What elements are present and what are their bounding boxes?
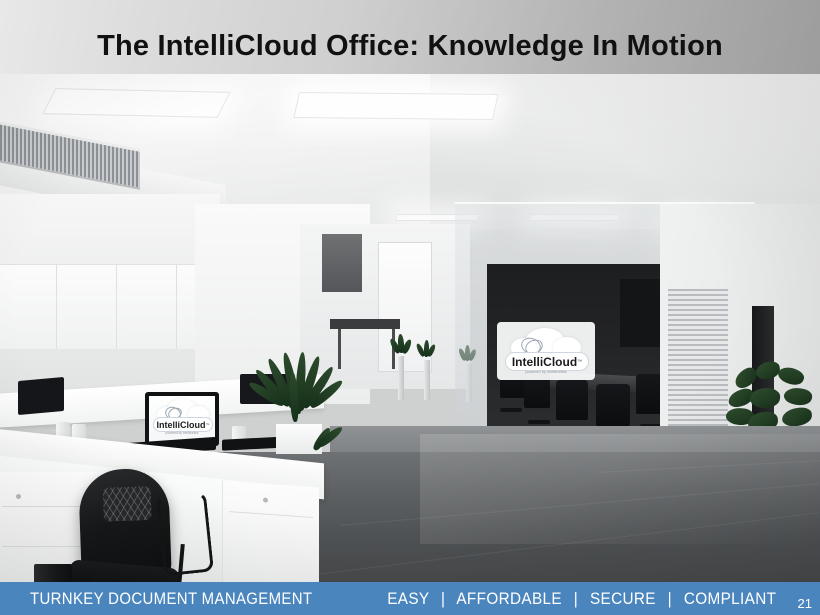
footer-tag-secure: SECURE (590, 589, 656, 608)
footer-tag-affordable: AFFORDABLE (456, 589, 562, 608)
conference-chair (556, 380, 588, 420)
logo-tagline: powered by intellinetics (151, 431, 213, 435)
monitor-screen: IntelliCloud™ powered by intellinetics (149, 396, 215, 442)
corridor-plant (416, 338, 436, 366)
ceiling-light-panel-icon (293, 92, 498, 120)
footer-separator: | (566, 589, 585, 608)
trademark-symbol: ™ (577, 359, 582, 365)
corridor-plant (390, 332, 410, 360)
presentation-slide: The IntelliCloud Office: Knowledge In Mo… (0, 0, 820, 615)
footer-taglines-right: EASY | AFFORDABLE | SECURE | COMPLIANT (387, 589, 776, 609)
conference-chair (596, 384, 630, 426)
desk-pedestal-right (222, 481, 319, 582)
footer-tagline-left: TURNKEY DOCUMENT MANAGEMENT (30, 589, 312, 609)
footer-tag-easy: EASY (387, 589, 429, 608)
logo-tagline: powered by intellinetics (501, 369, 591, 374)
secondary-monitor (18, 377, 64, 415)
back-wall-panel (322, 234, 362, 292)
footer-bar: TURNKEY DOCUMENT MANAGEMENT EASY | AFFOR… (0, 582, 820, 615)
background-desk (330, 319, 400, 329)
trademark-symbol: ™ (206, 422, 210, 427)
office-photo: IntelliCloud™ powered by intellinetics (0, 74, 820, 582)
ceiling-light-panel-icon (42, 88, 230, 118)
wall-cabinet-bank (0, 264, 221, 349)
chair-mesh-panel (103, 486, 152, 522)
brand-name: IntelliCloud (157, 420, 206, 430)
intellicloud-logo-glass-wall: IntelliCloud™ powered by intellinetics (497, 322, 595, 380)
brand-name: IntelliCloud (512, 355, 577, 369)
plant-stand (398, 356, 404, 400)
footer-separator: | (433, 589, 452, 608)
plant-stand (424, 360, 430, 400)
page-title: The IntelliCloud Office: Knowledge In Mo… (0, 30, 820, 63)
footer-tag-compliant: COMPLIANT (683, 589, 776, 608)
page-number: 21 (798, 596, 812, 611)
desktop-pc-tower (34, 564, 72, 582)
chair-armrest (156, 492, 214, 577)
center-plant (262, 352, 334, 432)
footer-separator: | (660, 589, 679, 608)
